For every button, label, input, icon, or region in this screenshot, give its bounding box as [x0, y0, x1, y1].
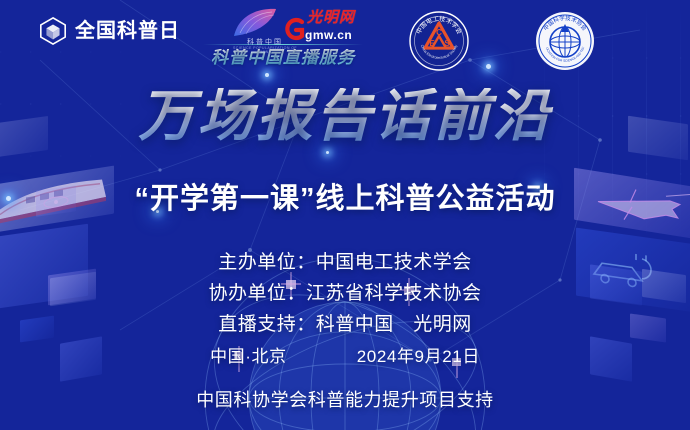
live-service-label: 科普中国直播服务	[203, 49, 363, 66]
logo-national-science-day[interactable]: 全国科普日	[38, 16, 180, 46]
live-service-banner: 科普中国直播服务	[203, 44, 363, 66]
divider-line	[203, 44, 363, 45]
logo-national-science-day-label: 全国科普日	[75, 21, 180, 41]
event-date: 2024年9月21日	[357, 348, 480, 365]
organizer-line: 主办单位：中国电工技术学会	[0, 248, 690, 279]
support-note: 中国科协学会科普能力提升项目支持	[0, 391, 690, 409]
event-place: 中国·北京	[210, 348, 287, 365]
place-date-row: 中国·北京 2024年9月21日	[0, 348, 690, 365]
logo-ces[interactable]: C E S 中国电工技术学会 China Electrotechnical So…	[408, 10, 470, 72]
poster-subtitle: “开学第一课”线上科普公益活动	[0, 183, 690, 216]
cube-hexagon-icon	[38, 16, 68, 46]
cast-globe-icon: 中国科学技术协会 CHINA ASSOCIATION FOR SCIENCE A…	[534, 10, 596, 72]
glow-dot	[326, 151, 329, 154]
logo-guangming[interactable]: 光明网 gmw.cn	[285, 10, 363, 44]
organizer-line: 直播支持：科普中国 光明网	[0, 310, 690, 341]
svg-text:S: S	[444, 39, 450, 48]
logo-guangming-label: 光明网	[307, 11, 355, 26]
organizer-block: 主办单位：中国电工技术学会 协办单位：江苏省科学技术协会 直播支持：科普中国 光…	[0, 248, 690, 340]
poster-title: 万场报告话前沿	[0, 88, 690, 144]
event-poster: 全国科普日 科普中国 SCIENCE POPULARIZATION OF CHI…	[0, 0, 690, 430]
logo-cast[interactable]: 中国科学技术协会 CHINA ASSOCIATION FOR SCIENCE A…	[534, 10, 596, 72]
logo-guangming-domain: gmw.cn	[305, 29, 352, 41]
svg-text:E: E	[429, 39, 435, 48]
organizer-line: 协办单位：江苏省科学技术协会	[0, 279, 690, 310]
top-logo-bar: 全国科普日 科普中国 SCIENCE POPULARIZATION OF CHI…	[0, 0, 690, 84]
svg-text:C: C	[436, 28, 442, 37]
ces-emblem-icon: C E S 中国电工技术学会 China Electrotechnical So…	[408, 10, 470, 72]
